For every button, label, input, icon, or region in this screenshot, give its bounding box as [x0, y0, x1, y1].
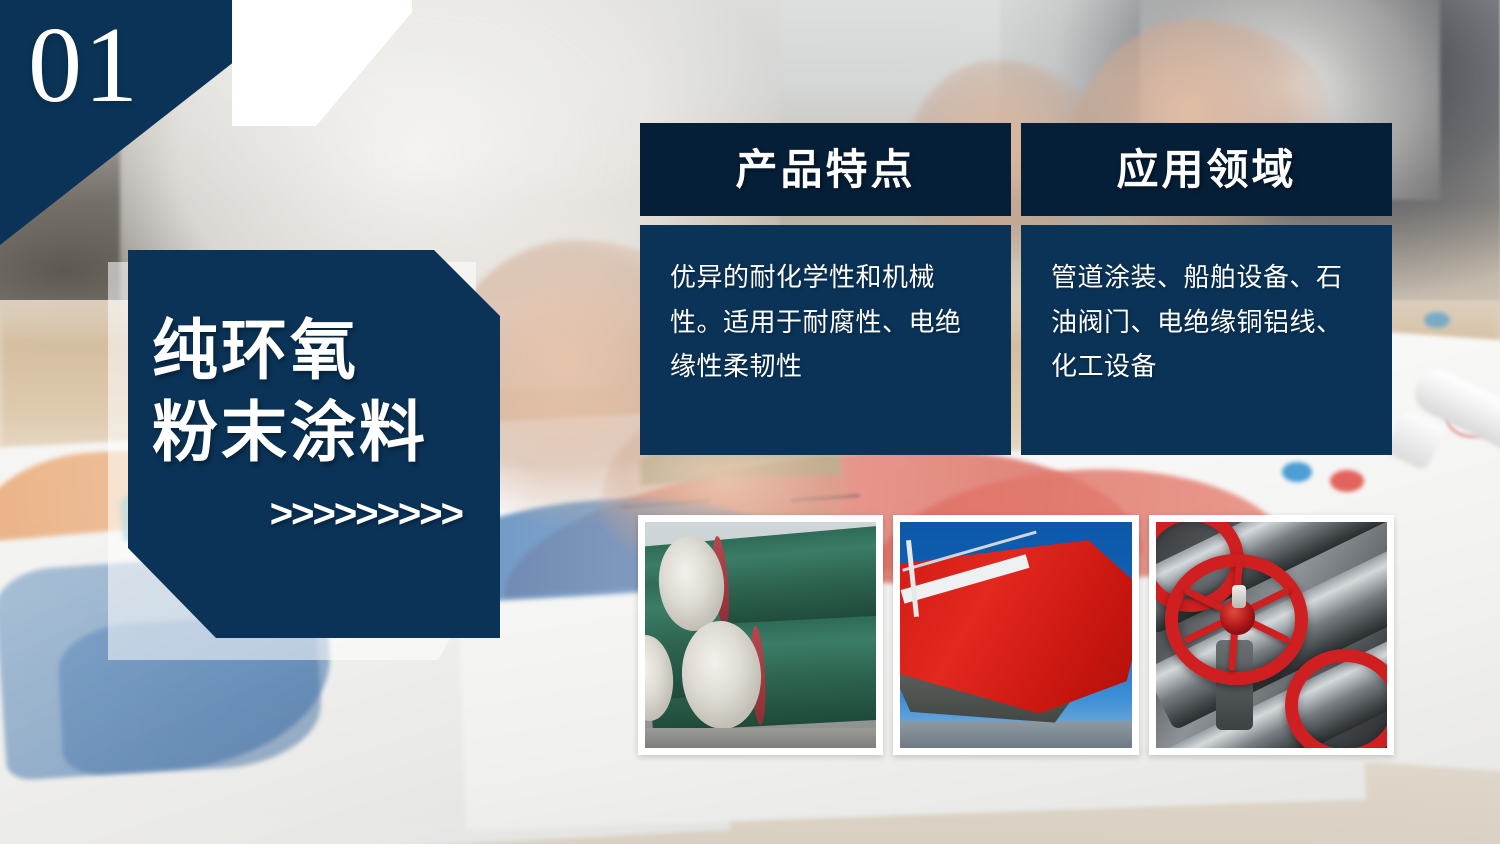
panel-product-features: 产品特点 优异的耐化学性和机械性。适用于耐腐性、电绝缘性柔韧性 — [640, 123, 1011, 455]
title-line-2: 粉末涂料 — [152, 394, 478, 472]
ship-dock-ground — [900, 721, 1131, 748]
panel-text-application-areas: 管道涂装、船舶设备、石油阀门、电绝缘铜铝线、化工设备 — [1051, 255, 1366, 389]
title-card: 纯环氧 粉末涂料 >>>>>>>>> — [128, 250, 500, 638]
photo-ship — [893, 515, 1138, 755]
pipe-ground — [645, 728, 876, 748]
panel-title-product-features: 产品特点 — [735, 149, 915, 191]
slide-root: 01 纯环氧 粉末涂料 >>>>>>>>> 产品特点 优异的耐化学性和机械性。适… — [0, 0, 1500, 844]
panel-body-application-areas: 管道涂装、船舶设备、石油阀门、电绝缘铜铝线、化工设备 — [1021, 225, 1392, 455]
chevron-arrows-icon: >>>>>>>>> — [152, 494, 478, 534]
panel-header-product-features: 产品特点 — [640, 123, 1011, 216]
section-number: 01 — [28, 12, 140, 120]
photo-valves — [1149, 515, 1394, 755]
content-panels: 产品特点 优异的耐化学性和机械性。适用于耐腐性、电绝缘性柔韧性 应用领域 管道涂… — [640, 123, 1392, 455]
photo-ship-inner — [900, 522, 1131, 748]
title-line-1: 纯环氧 — [152, 312, 478, 390]
panel-header-application-areas: 应用领域 — [1021, 123, 1392, 216]
valve-stem — [1232, 585, 1246, 608]
photo-pipes — [638, 515, 883, 755]
photo-strip — [638, 515, 1394, 755]
photo-valves-inner — [1156, 522, 1387, 748]
photo-pipes-inner — [645, 522, 876, 748]
panel-body-product-features: 优异的耐化学性和机械性。适用于耐腐性、电绝缘性柔韧性 — [640, 225, 1011, 455]
photo-pipes-scene — [645, 522, 876, 748]
panel-application-areas: 应用领域 管道涂装、船舶设备、石油阀门、电绝缘铜铝线、化工设备 — [1021, 123, 1392, 455]
panel-title-application-areas: 应用领域 — [1116, 149, 1296, 191]
panel-text-product-features: 优异的耐化学性和机械性。适用于耐腐性、电绝缘性柔韧性 — [670, 255, 985, 389]
title-card-inner: 纯环氧 粉末涂料 >>>>>>>>> — [128, 250, 500, 638]
